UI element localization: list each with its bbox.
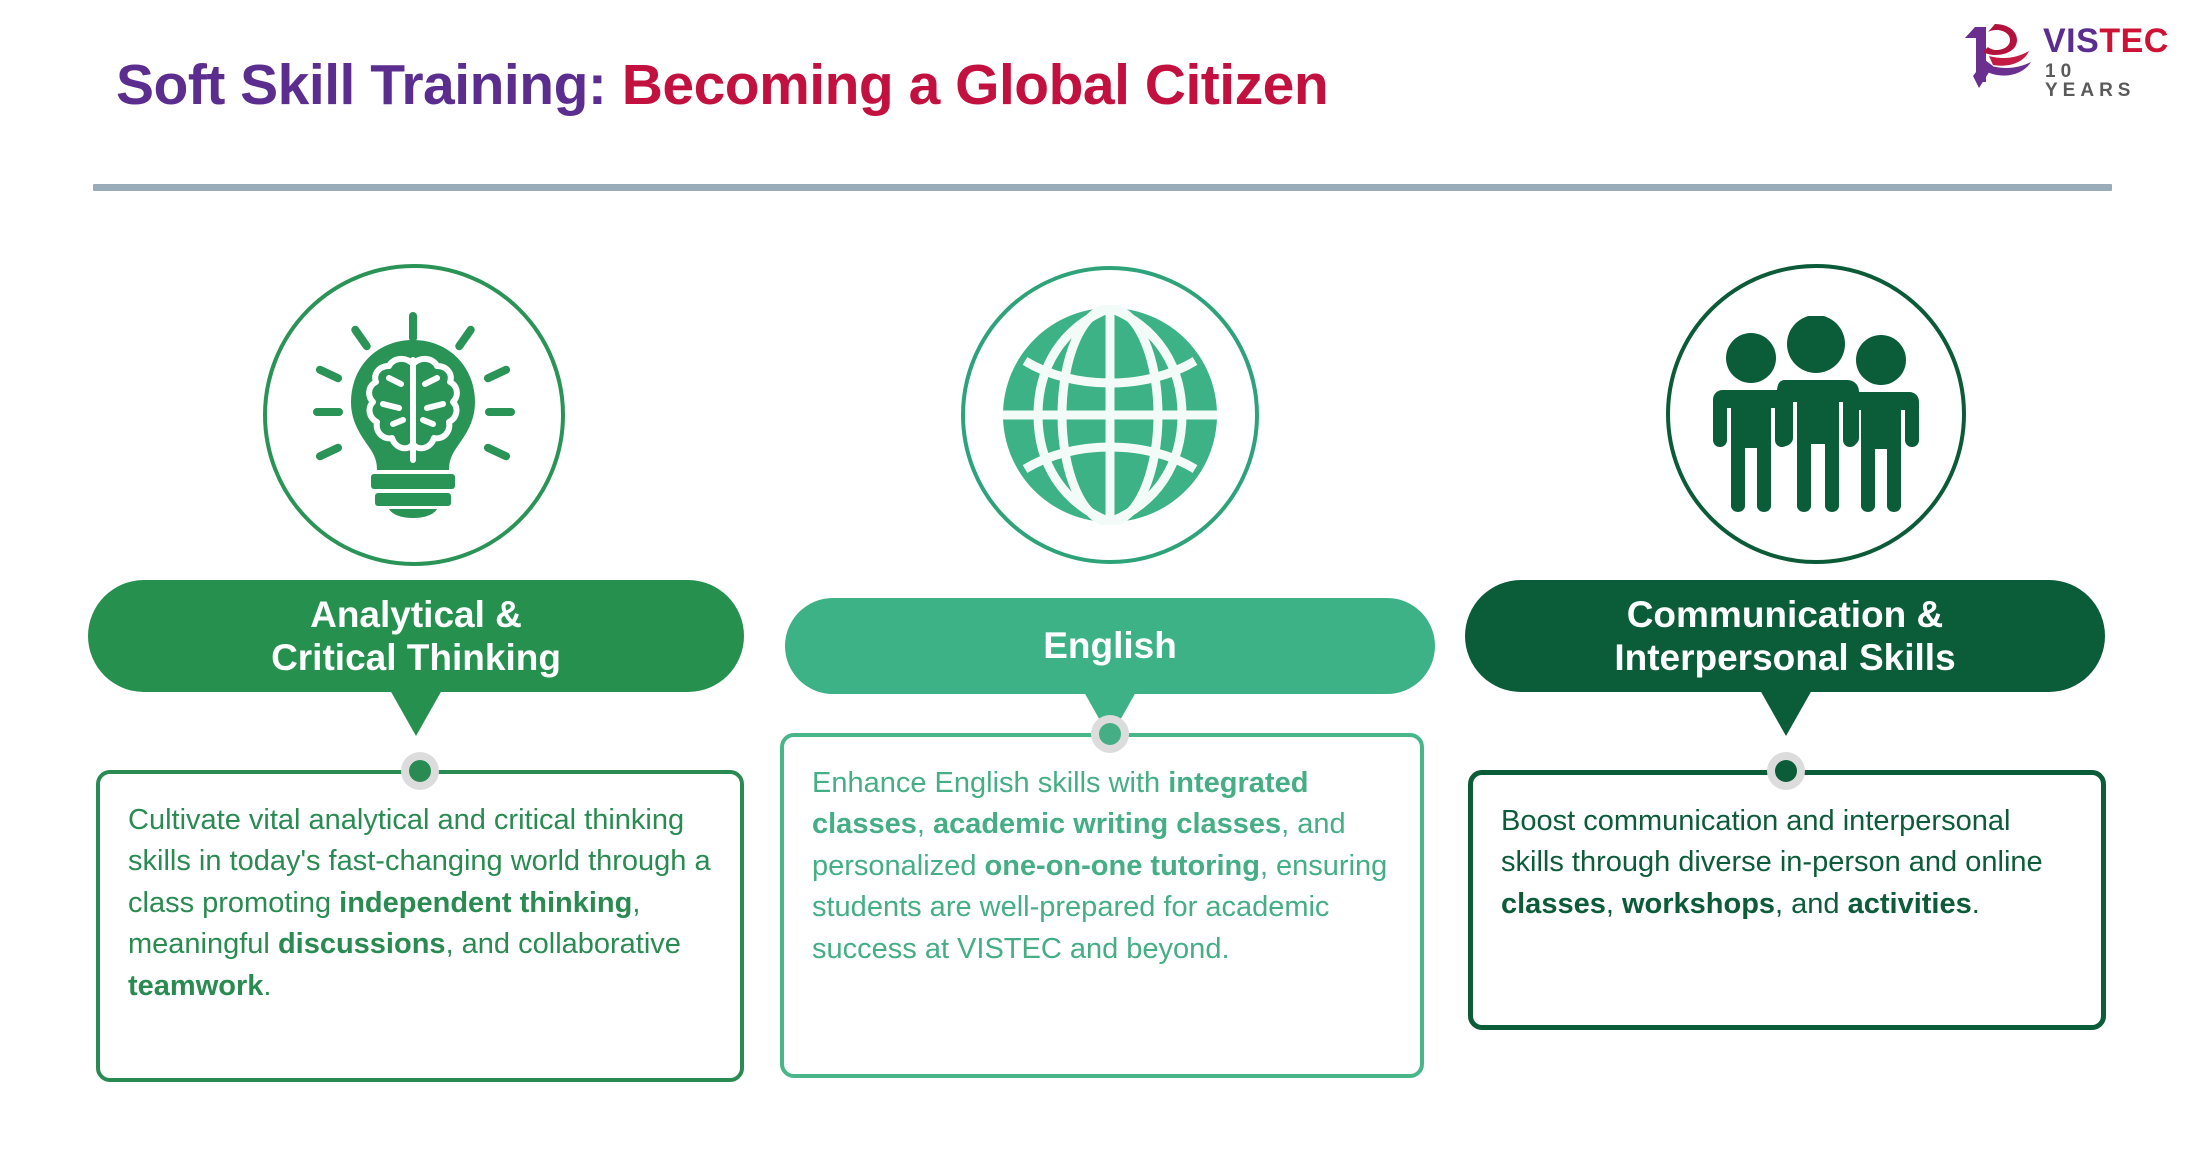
heading-line-1: Analytical & <box>310 594 522 635</box>
page-title-part-accent: Becoming a Global Citizen <box>622 53 1328 117</box>
slide-canvas: Soft Skill Training: Becoming a Global C… <box>0 0 2200 1173</box>
heading-pill-label: English <box>1043 624 1177 667</box>
pill-pointer-communication <box>1760 690 1812 736</box>
heading-pill-label: Analytical &Critical Thinking <box>271 593 561 680</box>
heading-line-2: Critical Thinking <box>271 637 561 678</box>
description-box-english: Enhance English skills with integrated c… <box>780 733 1424 1078</box>
heading-pill-communication: Communication &Interpersonal Skills <box>1465 580 2105 692</box>
description-text-analytical: Cultivate vital analytical and critical … <box>128 800 716 1007</box>
logo-tagline: 10 YEARS <box>2045 62 2170 100</box>
title-divider-rule <box>93 184 2112 191</box>
connector-dot-analytical <box>401 752 439 790</box>
pill-pointer-analytical <box>390 690 442 736</box>
heading-pill-english: English <box>785 598 1435 694</box>
description-box-communication: Boost communication and interpersonal sk… <box>1468 770 2106 1030</box>
page-title: Soft Skill Training: Becoming a Global C… <box>116 54 1328 117</box>
vistec-wordmark: VISTEC <box>2043 24 2169 58</box>
connector-dot-english <box>1091 715 1129 753</box>
lightbulb-brain-icon <box>313 312 515 518</box>
heading-line-1: Communication & <box>1627 594 1944 635</box>
heading-line-2: Interpersonal Skills <box>1614 637 1955 678</box>
description-text-communication: Boost communication and interpersonal sk… <box>1501 801 2077 925</box>
wordmark-vis: VIS <box>2043 22 2099 60</box>
vistec-logo: VISTEC 10 YEARS <box>1955 18 2170 90</box>
page-title-part-primary: Soft Skill Training: <box>116 53 622 117</box>
heading-pill-label: Communication &Interpersonal Skills <box>1614 593 1955 680</box>
three-people-group-icon <box>1709 316 1923 512</box>
heading-pill-analytical: Analytical &Critical Thinking <box>88 580 744 692</box>
wordmark-tec: TEC <box>2099 22 2169 60</box>
description-text-english: Enhance English skills with integrated c… <box>812 763 1396 970</box>
vistec-swoosh-icon <box>1955 18 2039 90</box>
connector-dot-communication <box>1767 752 1805 790</box>
globe-icon <box>1000 305 1220 525</box>
description-box-analytical: Cultivate vital analytical and critical … <box>96 770 744 1082</box>
